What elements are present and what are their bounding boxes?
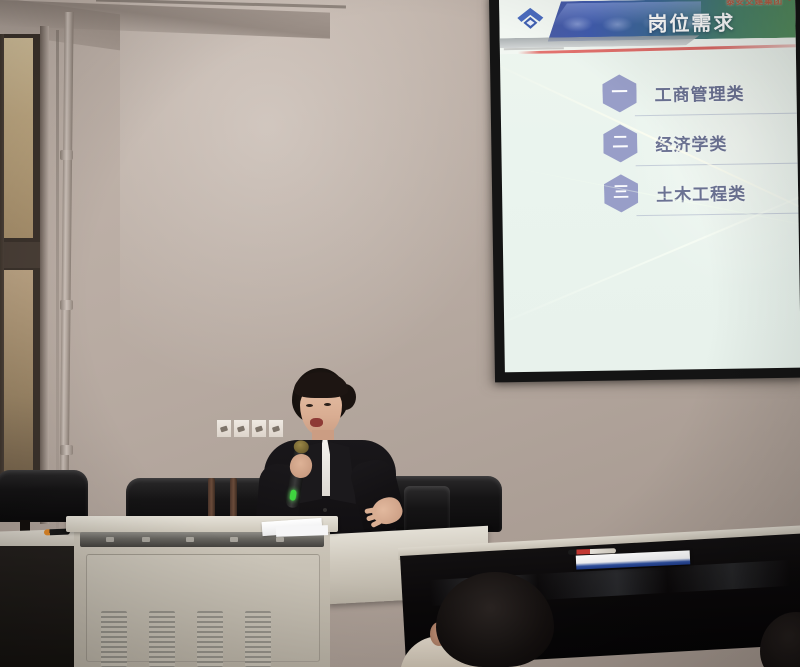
ventilation-slots bbox=[197, 611, 223, 667]
presenter-eye bbox=[324, 403, 331, 406]
presenter-eye bbox=[306, 404, 313, 407]
window-pane-upper bbox=[0, 38, 33, 238]
rail-notch bbox=[276, 537, 284, 542]
slide-list-item: 一 工商管理类 bbox=[522, 66, 783, 120]
bullet-numeral: 一 bbox=[611, 85, 627, 101]
ventilation-slots bbox=[149, 611, 175, 667]
presenter-fringe bbox=[294, 372, 348, 398]
diamond-logo-icon bbox=[515, 6, 545, 36]
slide-list-item: 三 土木工程类 bbox=[524, 166, 785, 220]
lectern-cabinet bbox=[74, 528, 330, 667]
rail-notch bbox=[106, 537, 114, 542]
window-mullion bbox=[0, 242, 42, 268]
slide-header: 泰安交建集团 岗位需求 bbox=[499, 0, 796, 54]
pipe-joint bbox=[60, 300, 73, 310]
slide-item-rule bbox=[636, 212, 800, 216]
rail-notch bbox=[230, 537, 238, 542]
lectern-panel bbox=[86, 554, 320, 662]
blazer-button bbox=[323, 508, 327, 512]
window bbox=[0, 34, 42, 520]
presenter-mouth bbox=[310, 418, 323, 427]
ventilation-slots bbox=[101, 611, 127, 667]
wall-light-sheen bbox=[120, 0, 540, 420]
projection-screen: 泰安交建集团 岗位需求 一 工商管理类 二 bbox=[489, 0, 800, 382]
hexagon-bullet-icon: 三 bbox=[604, 174, 639, 213]
pipe-joint bbox=[60, 445, 73, 455]
slide-item-label: 工商管理类 bbox=[654, 79, 744, 105]
chair-backrest bbox=[0, 470, 88, 522]
microphone-led-icon bbox=[289, 489, 297, 501]
hexagon-bullet-icon: 一 bbox=[602, 74, 637, 113]
power-socket bbox=[233, 419, 249, 438]
leather-chair bbox=[0, 470, 88, 522]
power-socket bbox=[216, 419, 232, 438]
slide-bullet-list: 一 工商管理类 二 经济学类 三 土木工程类 bbox=[522, 66, 784, 220]
presentation-photo-scene: 泰安交建集团 岗位需求 一 工商管理类 二 bbox=[0, 0, 800, 667]
papers-on-lectern bbox=[276, 525, 328, 537]
window-jamb bbox=[40, 26, 49, 524]
window-sill bbox=[0, 34, 4, 520]
side-desk-body bbox=[0, 546, 82, 667]
window-pane-lower bbox=[0, 270, 33, 500]
bullet-numeral: 二 bbox=[612, 135, 628, 151]
slide-list-item: 二 经济学类 bbox=[523, 116, 784, 170]
rail-notch bbox=[142, 537, 150, 542]
slide-title: 岗位需求 bbox=[647, 7, 735, 37]
ventilation-slots bbox=[245, 611, 271, 667]
slide-item-label: 土木工程类 bbox=[656, 179, 746, 205]
rail-notch bbox=[186, 537, 194, 542]
pipe-joint bbox=[60, 150, 73, 160]
projected-slide: 泰安交建集团 岗位需求 一 工商管理类 二 bbox=[499, 0, 800, 372]
